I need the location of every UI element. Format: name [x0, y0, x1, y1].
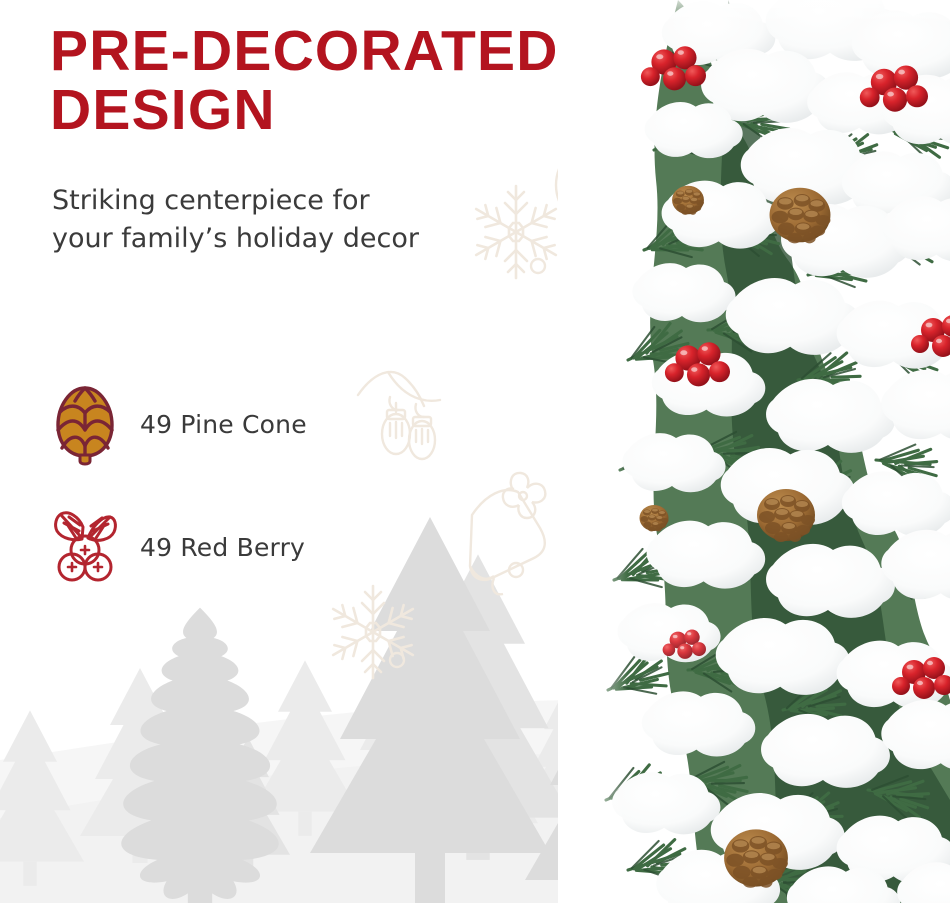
snowflake-dot-upper: [531, 259, 545, 273]
feature-item-pine-cone: 49 Pine Cone: [52, 382, 307, 466]
string-lights-watermark: [358, 372, 440, 459]
subtitle-text: Striking centerpiece for your family’s h…: [52, 182, 522, 259]
bell-watermark: [470, 473, 545, 594]
snowflake-watermark-lower: [328, 586, 419, 678]
feature-item-red-berry: 49 Red Berry: [52, 505, 305, 589]
product-feature-panel: Pre-Decorated Design Striking centerpiec…: [0, 0, 950, 903]
tree-silhouette-mid-row: [206, 554, 572, 873]
feature-label-red-berry: 49 Red Berry: [140, 533, 305, 562]
bell-dot: [509, 563, 523, 577]
page-title: Pre-Decorated Design: [50, 22, 610, 141]
pine-cone-icon: [52, 382, 118, 466]
flocked-christmas-tree-photo: [558, 0, 950, 903]
red-berry-icon: [52, 505, 118, 589]
snowflake-dot-lower: [390, 653, 404, 667]
feature-label-pine-cone: 49 Pine Cone: [140, 410, 307, 439]
